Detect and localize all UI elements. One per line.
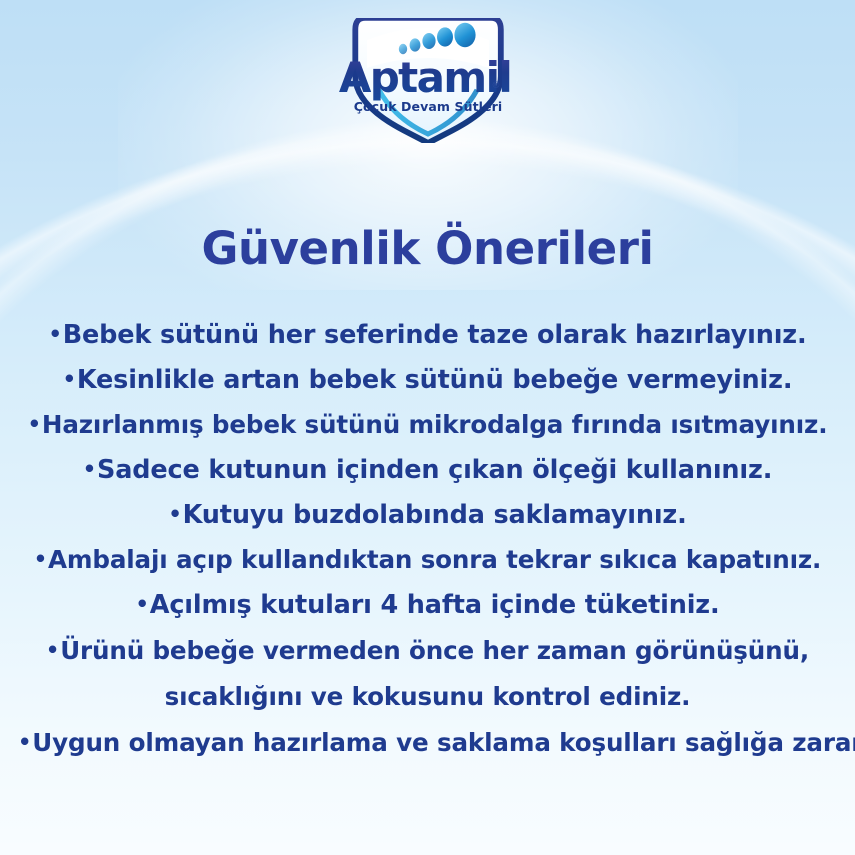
aptamil-shield-logo: Aptamil ® Çocuk Devam Sütleri xyxy=(333,18,523,143)
list-item-text: Uygun olmayan hazırlama ve saklama koşul… xyxy=(32,728,855,757)
brand-wordmark: Aptamil xyxy=(338,53,510,102)
bullet-icon: • xyxy=(18,730,31,754)
list-item-text: Sadece kutunun içinden çıkan ölçeği kull… xyxy=(97,455,772,485)
list-item: •Açılmış kutuları 4 hafta içinde tüketin… xyxy=(18,582,837,627)
list-item: •Sadece kutunun içinden çıkan ölçeği kul… xyxy=(18,447,837,492)
list-item-text: Hazırlanmış bebek sütünü mikrodalga fırı… xyxy=(42,410,828,439)
bullet-icon: • xyxy=(28,412,41,436)
list-item: •Uygun olmayan hazırlama ve saklama koşu… xyxy=(18,720,837,765)
list-item: •Kutuyu buzdolabında saklamayınız. xyxy=(18,492,837,537)
list-item-text: Ürünü bebeğe vermeden önce her zaman gör… xyxy=(60,636,809,711)
list-item-text: Kesinlikle artan bebek sütünü bebeğe ver… xyxy=(77,365,793,395)
list-item: •Ürünü bebeğe vermeden önce her zaman gö… xyxy=(18,627,837,720)
bullet-icon: • xyxy=(63,367,76,391)
list-item-text: Ambalajı açıp kullandıktan sonra tekrar … xyxy=(48,545,821,574)
safety-advice-poster: Aptamil ® Çocuk Devam Sütleri Güvenlik Ö… xyxy=(0,0,855,855)
list-item: •Hazırlanmış bebek sütünü mikrodalga fır… xyxy=(18,402,837,447)
brand-tagline: Çocuk Devam Sütleri xyxy=(353,99,502,114)
list-item: •Ambalajı açıp kullandıktan sonra tekrar… xyxy=(18,537,837,582)
page-title: Güvenlik Önerileri xyxy=(0,222,855,275)
list-item-text: Açılmış kutuları 4 hafta içinde tüketini… xyxy=(150,590,720,620)
bullet-icon: • xyxy=(83,457,96,481)
bullet-icon: • xyxy=(46,638,59,662)
bullet-icon: • xyxy=(168,502,181,526)
bullet-icon: • xyxy=(48,322,61,346)
safety-tips-list: •Bebek sütünü her seferinde taze olarak … xyxy=(18,312,837,765)
bullet-icon: • xyxy=(34,547,47,571)
list-item-text: Kutuyu buzdolabında saklamayınız. xyxy=(183,500,687,530)
bullet-icon: • xyxy=(135,592,148,616)
list-item: •Kesinlikle artan bebek sütünü bebeğe ve… xyxy=(18,357,837,402)
list-item-text: Bebek sütünü her seferinde taze olarak h… xyxy=(63,320,807,350)
list-item: •Bebek sütünü her seferinde taze olarak … xyxy=(18,312,837,357)
registered-trademark-symbol: ® xyxy=(491,81,500,91)
